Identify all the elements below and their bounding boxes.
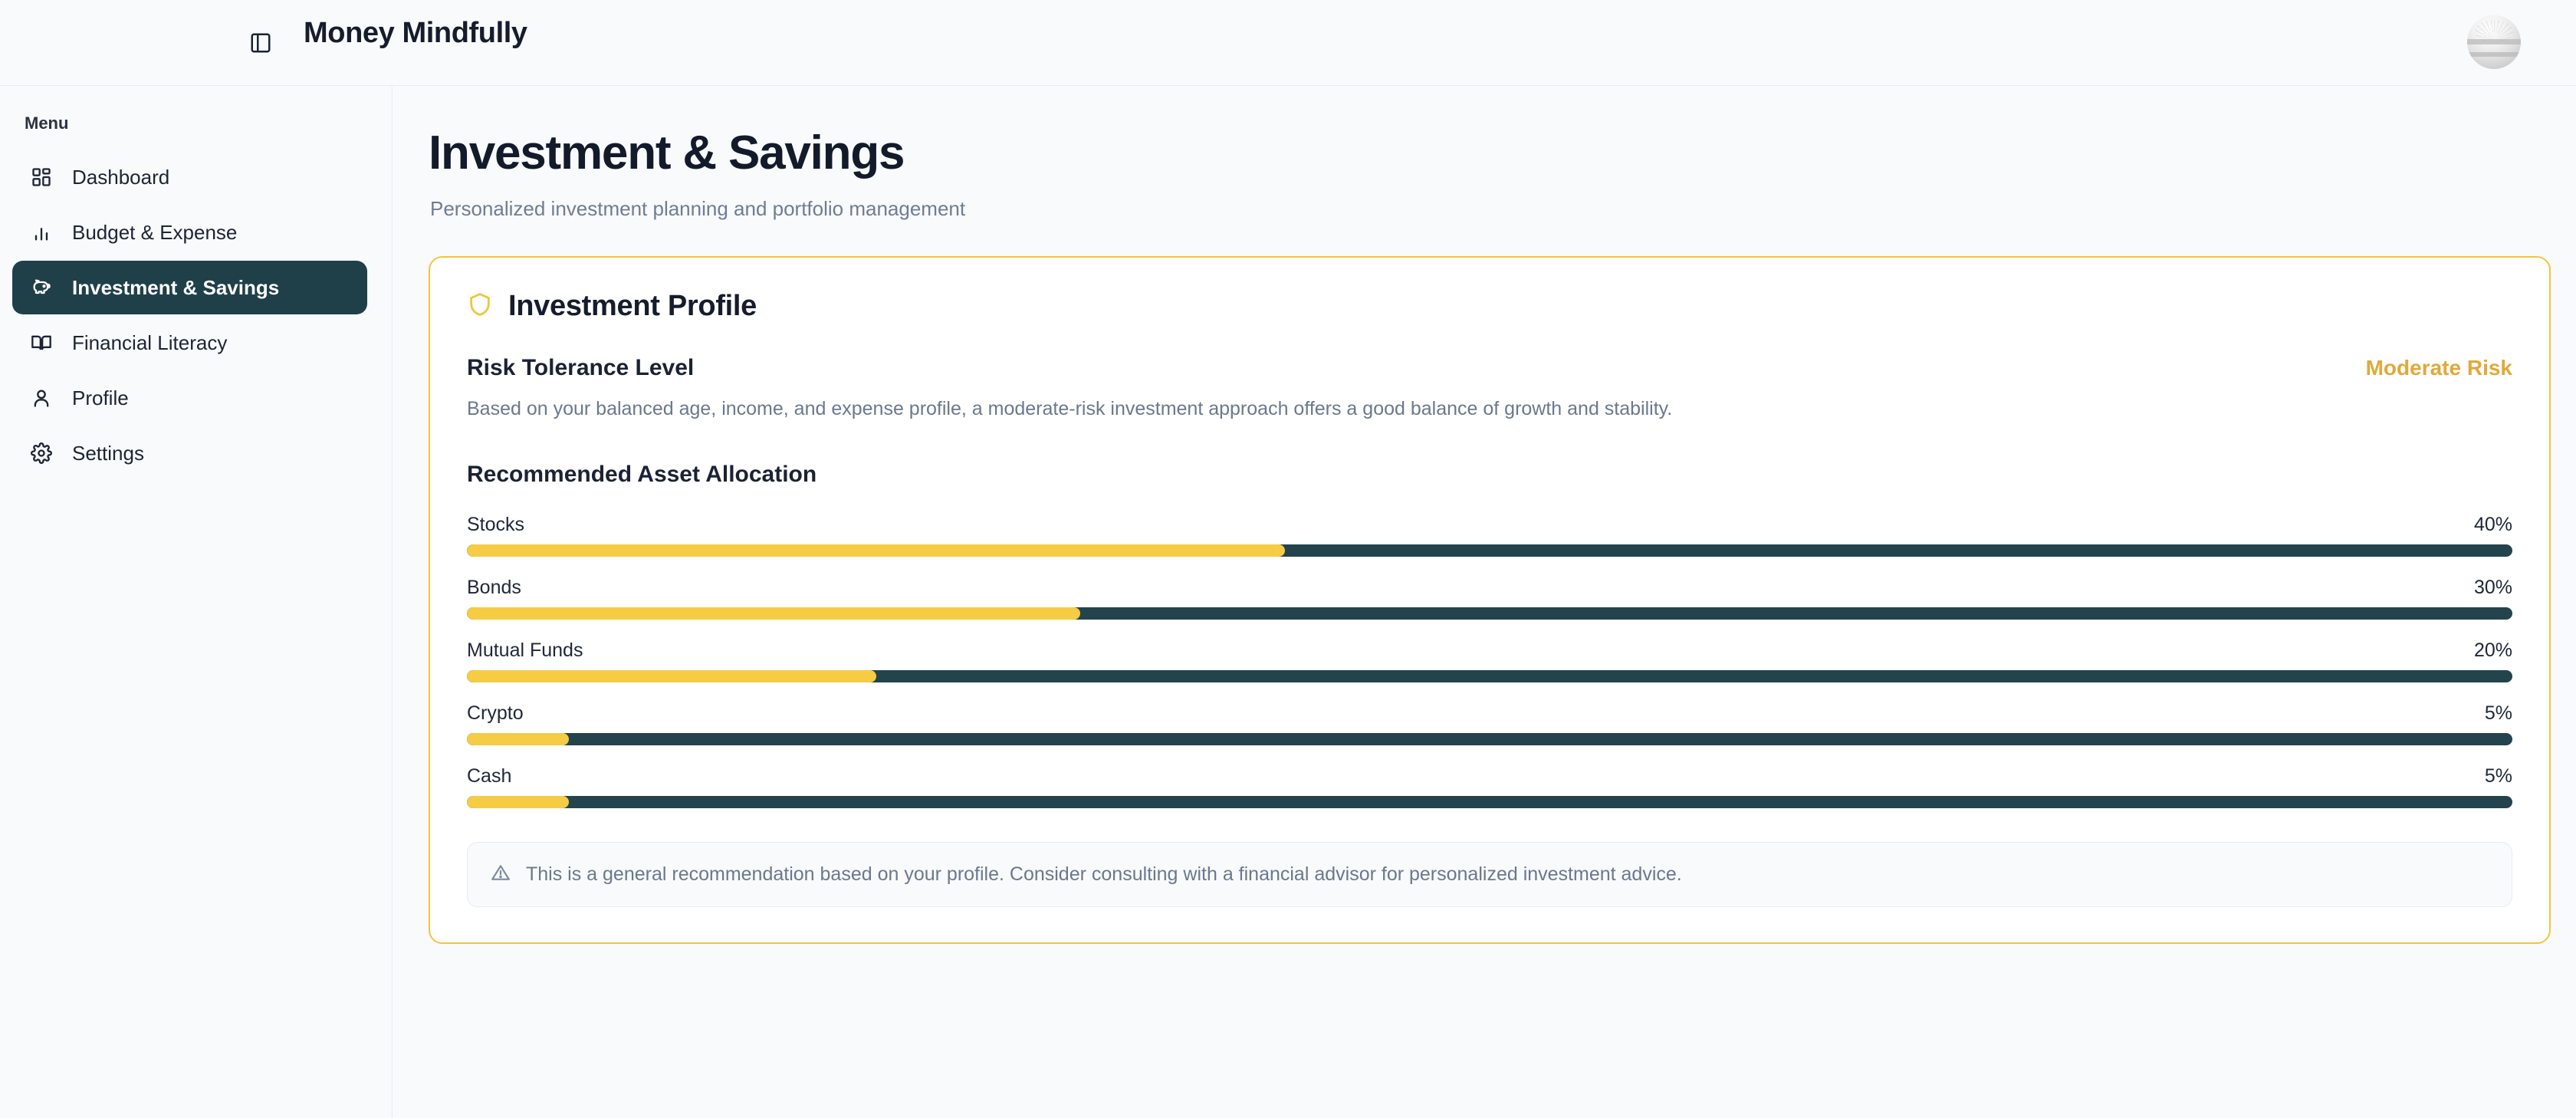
sidebar-item-financial-literacy[interactable]: Financial Literacy xyxy=(12,316,367,370)
layout-grid-icon xyxy=(29,165,54,189)
allocation-label: Bonds xyxy=(467,577,521,599)
panel-left-icon xyxy=(249,31,272,54)
allocation-progress-fill xyxy=(467,796,569,808)
sidebar-item-label: Investment & Savings xyxy=(72,276,279,300)
risk-tolerance-row: Risk Tolerance Level Moderate Risk xyxy=(467,355,2512,381)
avatar[interactable] xyxy=(2467,15,2521,69)
avatar-dome-ribs xyxy=(2475,20,2513,44)
card-header: Investment Profile xyxy=(467,290,2512,323)
piggy-bank-icon xyxy=(29,275,54,300)
allocation-progress-track xyxy=(467,796,2512,808)
allocation-row-stocks: Stocks 40% xyxy=(467,514,2512,557)
sidebar-item-label: Financial Literacy xyxy=(72,331,227,355)
sidebar-item-investment-savings[interactable]: Investment & Savings xyxy=(12,261,367,314)
allocation-progress-track xyxy=(467,670,2512,682)
allocation-progress-fill xyxy=(467,733,569,745)
risk-description: Based on your balanced age, income, and … xyxy=(467,398,2512,420)
allocation-percent: 5% xyxy=(2485,702,2512,725)
allocation-label: Cash xyxy=(467,765,511,788)
allocation-percent: 30% xyxy=(2474,577,2512,599)
allocation-progress-fill xyxy=(467,670,876,682)
sidebar-item-label: Budget & Expense xyxy=(72,221,237,245)
allocation-percent: 20% xyxy=(2474,640,2512,662)
allocation-progress-track xyxy=(467,544,2512,557)
avatar-image xyxy=(2467,15,2521,69)
shield-icon xyxy=(467,291,493,321)
allocation-percent: 40% xyxy=(2474,514,2512,536)
allocation-row-mutual-funds: Mutual Funds 20% xyxy=(467,640,2512,682)
disclaimer-text: This is a general recommendation based o… xyxy=(526,863,1682,886)
allocation-row-crypto: Crypto 5% xyxy=(467,702,2512,745)
sidebar-item-profile[interactable]: Profile xyxy=(12,371,367,425)
brand-title: Money Mindfully xyxy=(304,17,527,50)
bar-chart-icon xyxy=(29,220,54,245)
page-title: Investment & Savings xyxy=(429,126,2527,180)
asset-allocation-heading: Recommended Asset Allocation xyxy=(467,462,2512,488)
sidebar-section-label: Menu xyxy=(25,113,392,133)
sidebar: Menu Dashboard Budget & Expense xyxy=(0,86,393,1118)
main-content: Investment & Savings Personalized invest… xyxy=(393,86,2576,1118)
sidebar-item-settings[interactable]: Settings xyxy=(12,426,367,480)
investment-profile-card: Investment Profile Risk Tolerance Level … xyxy=(429,256,2551,944)
sidebar-toggle-button[interactable] xyxy=(244,26,278,60)
sidebar-item-dashboard[interactable]: Dashboard xyxy=(12,150,367,204)
allocation-label: Mutual Funds xyxy=(467,640,583,662)
sidebar-item-label: Settings xyxy=(72,442,144,465)
gear-icon xyxy=(29,441,54,465)
allocation-label: Stocks xyxy=(467,514,524,536)
allocation-row-cash: Cash 5% xyxy=(467,765,2512,808)
sidebar-item-label: Profile xyxy=(72,386,129,410)
sidebar-item-budget-expense[interactable]: Budget & Expense xyxy=(12,206,367,259)
top-bar: Money Mindfully xyxy=(0,0,2576,86)
allocation-percent: 5% xyxy=(2485,765,2512,788)
sidebar-item-label: Dashboard xyxy=(72,166,169,189)
user-icon xyxy=(29,386,54,410)
card-title: Investment Profile xyxy=(508,290,757,323)
alert-triangle-icon xyxy=(491,863,511,886)
allocation-progress-track xyxy=(467,733,2512,745)
allocation-progress-fill xyxy=(467,544,1285,557)
page-subtitle: Personalized investment planning and por… xyxy=(430,197,2527,221)
risk-level-badge: Moderate Risk xyxy=(2366,356,2512,380)
allocation-progress-fill xyxy=(467,607,1080,620)
allocation-progress-track xyxy=(467,607,2512,620)
book-open-icon xyxy=(29,330,54,355)
allocation-label: Crypto xyxy=(467,702,524,725)
risk-tolerance-heading: Risk Tolerance Level xyxy=(467,355,694,381)
disclaimer-banner: This is a general recommendation based o… xyxy=(467,842,2512,907)
allocation-row-bonds: Bonds 30% xyxy=(467,577,2512,620)
